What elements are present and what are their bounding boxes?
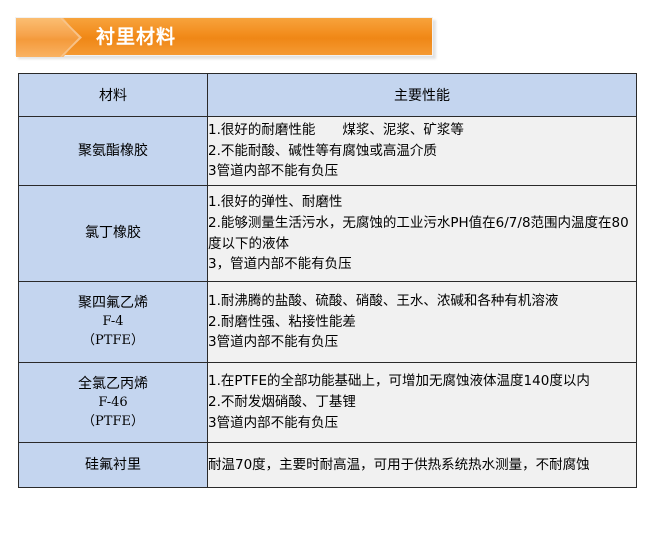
chevron-right-icon bbox=[16, 18, 80, 57]
material-name: 全氯乙丙烯 bbox=[78, 376, 148, 392]
property-line: 1.耐沸腾的盐酸、硫酸、硝酸、王水、浓碱和各种有机溶液 bbox=[208, 291, 636, 312]
table-body: 聚氨酯橡胶 1.很好的耐磨性能 煤浆、泥浆、矿浆等 2.不能耐酸、碱性等有腐蚀或… bbox=[19, 117, 637, 488]
material-abbreviation: （PTFE） bbox=[19, 332, 207, 351]
table-row: 聚四氟乙烯 F-4 （PTFE） 1.耐沸腾的盐酸、硫酸、硝酸、王水、浓碱和各种… bbox=[19, 282, 637, 363]
table-row: 硅氟衬里 耐温70度，主要时耐高温，可用于供热系统热水测量，不耐腐蚀 bbox=[19, 443, 637, 488]
table-row: 氯丁橡胶 1.很好的弹性、耐磨性 2.能够测量生活污水，无腐蚀的工业污水PH值在… bbox=[19, 186, 637, 282]
page-banner: 衬里材料 bbox=[15, 17, 433, 56]
cell-properties: 1.很好的弹性、耐磨性 2.能够测量生活污水，无腐蚀的工业污水PH值在6/7/8… bbox=[208, 186, 637, 282]
property-line: 1.在PTFE的全部功能基础上，可增加无腐蚀液体温度140度以内 bbox=[208, 371, 636, 392]
lining-material-table: 材料 主要性能 聚氨酯橡胶 1.很好的耐磨性能 煤浆、泥浆、矿浆等 2.不能耐酸… bbox=[18, 73, 637, 488]
property-line: 3管道内部不能有负压 bbox=[208, 332, 636, 353]
property-line: 2.耐磨性强、粘接性能差 bbox=[208, 312, 636, 333]
page-title: 衬里材料 bbox=[96, 18, 176, 57]
table-row: 全氯乙丙烯 F-46 （PTFE） 1.在PTFE的全部功能基础上，可增加无腐蚀… bbox=[19, 363, 637, 443]
cell-properties: 1.很好的耐磨性能 煤浆、泥浆、矿浆等 2.不能耐酸、碱性等有腐蚀或高温介质 3… bbox=[208, 117, 637, 186]
material-name: 氯丁橡胶 bbox=[85, 225, 141, 241]
cell-material: 硅氟衬里 bbox=[19, 443, 208, 488]
property-line: 1.很好的耐磨性能 煤浆、泥浆、矿浆等 bbox=[208, 120, 636, 141]
property-line: 耐温70度，主要时耐高温，可用于供热系统热水测量，不耐腐蚀 bbox=[208, 455, 636, 476]
material-code: F-4 bbox=[19, 313, 207, 332]
property-line: 2.能够测量生活污水，无腐蚀的工业污水PH值在6/7/8范围内温度在80度以下的… bbox=[208, 213, 636, 255]
cell-material: 聚氨酯橡胶 bbox=[19, 117, 208, 186]
property-line: 3，管道内部不能有负压 bbox=[208, 254, 636, 275]
table-header-row: 材料 主要性能 bbox=[19, 74, 637, 117]
column-header-material: 材料 bbox=[19, 74, 208, 117]
material-name: 硅氟衬里 bbox=[85, 457, 141, 473]
property-line: 2.不能耐酸、碱性等有腐蚀或高温介质 bbox=[208, 141, 636, 162]
property-line: 3管道内部不能有负压 bbox=[208, 413, 636, 434]
property-line: 3管道内部不能有负压 bbox=[208, 161, 636, 182]
material-name: 聚四氟乙烯 bbox=[78, 295, 148, 311]
lining-material-table-wrap: 材料 主要性能 聚氨酯橡胶 1.很好的耐磨性能 煤浆、泥浆、矿浆等 2.不能耐酸… bbox=[18, 73, 636, 488]
cell-properties: 1.在PTFE的全部功能基础上，可增加无腐蚀液体温度140度以内 2.不耐发烟硝… bbox=[208, 363, 637, 443]
material-abbreviation: （PTFE） bbox=[19, 413, 207, 432]
cell-properties: 耐温70度，主要时耐高温，可用于供热系统热水测量，不耐腐蚀 bbox=[208, 443, 637, 488]
property-line: 1.很好的弹性、耐磨性 bbox=[208, 192, 636, 213]
table-row: 聚氨酯橡胶 1.很好的耐磨性能 煤浆、泥浆、矿浆等 2.不能耐酸、碱性等有腐蚀或… bbox=[19, 117, 637, 186]
column-header-properties: 主要性能 bbox=[208, 74, 637, 117]
cell-material: 聚四氟乙烯 F-4 （PTFE） bbox=[19, 282, 208, 363]
material-name: 聚氨酯橡胶 bbox=[78, 143, 148, 159]
material-code: F-46 bbox=[19, 394, 207, 413]
cell-material: 全氯乙丙烯 F-46 （PTFE） bbox=[19, 363, 208, 443]
banner-bar: 衬里材料 bbox=[15, 17, 433, 56]
cell-properties: 1.耐沸腾的盐酸、硫酸、硝酸、王水、浓碱和各种有机溶液 2.耐磨性强、粘接性能差… bbox=[208, 282, 637, 363]
cell-material: 氯丁橡胶 bbox=[19, 186, 208, 282]
property-line: 2.不耐发烟硝酸、丁基锂 bbox=[208, 392, 636, 413]
